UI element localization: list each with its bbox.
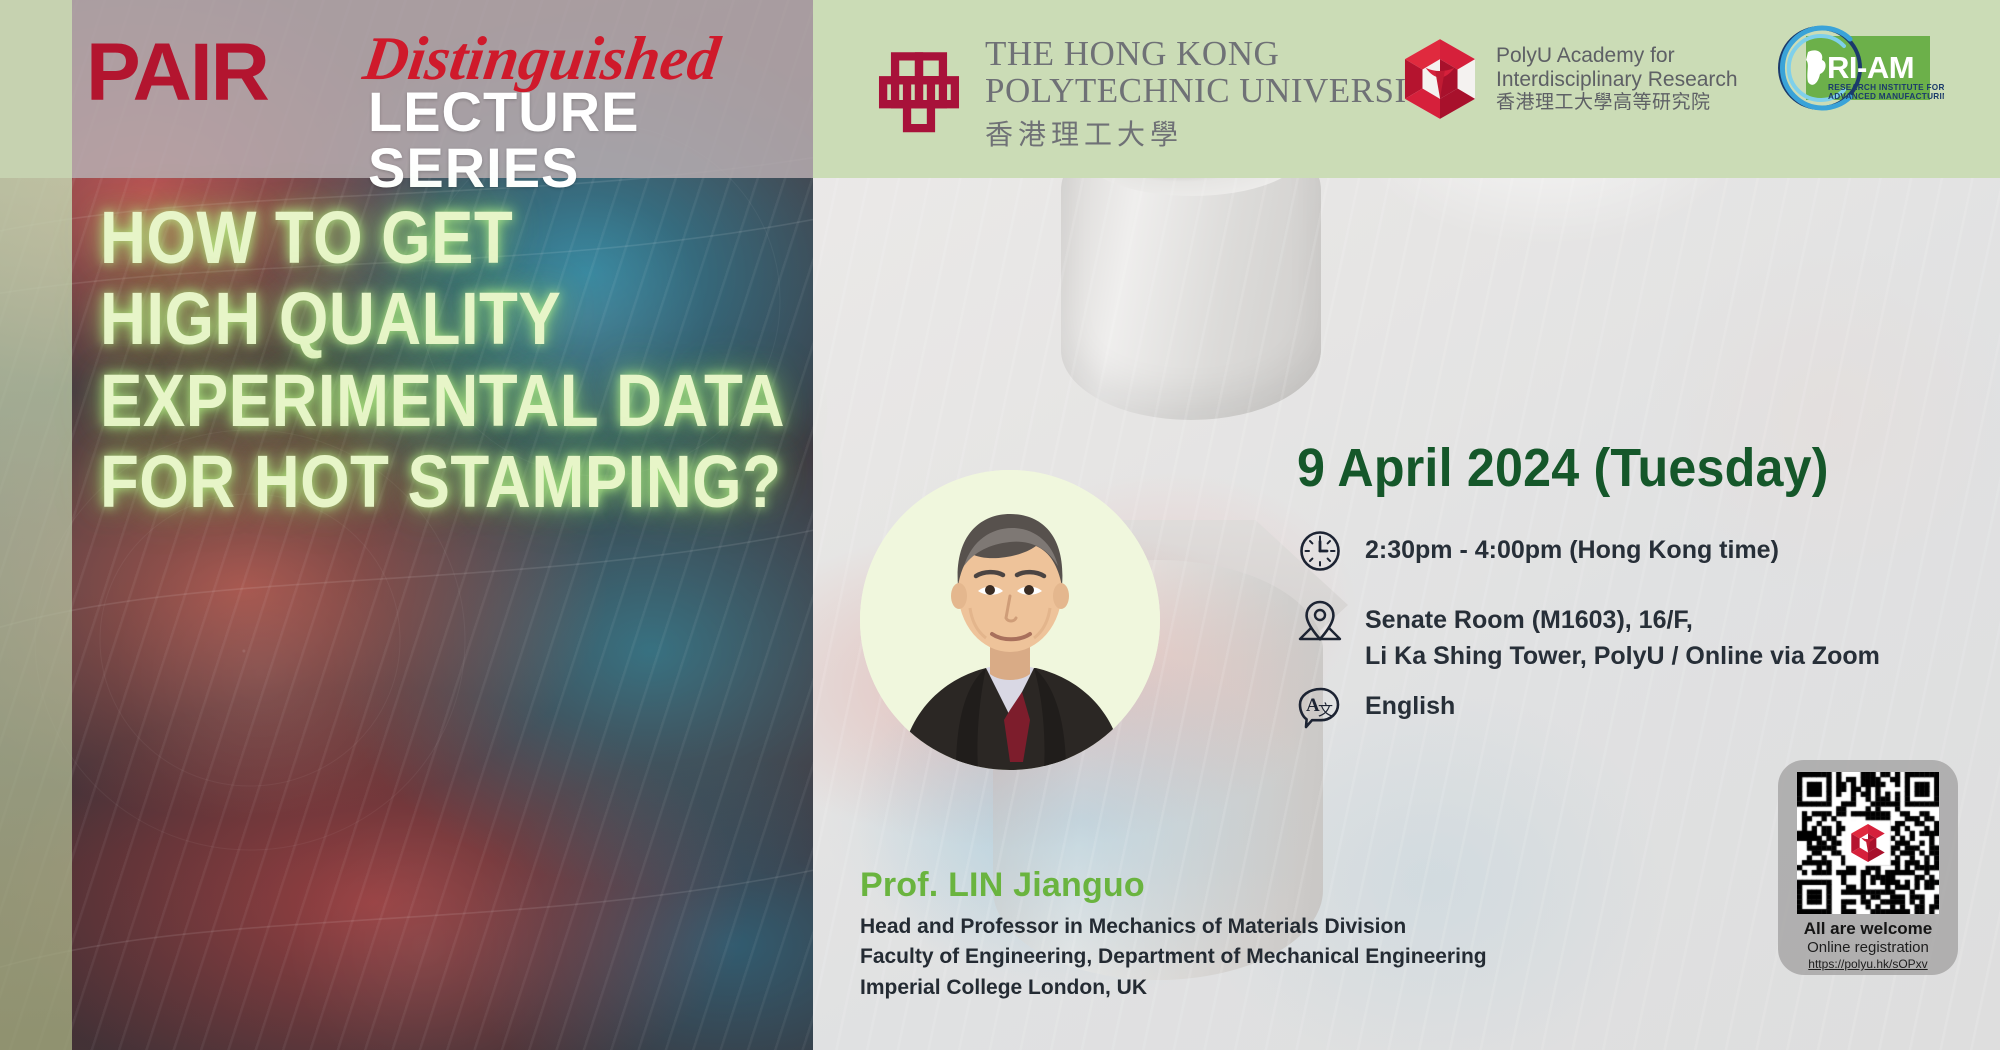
svg-text:ADVANCED MANUFACTURING: ADVANCED MANUFACTURING — [1828, 92, 1944, 101]
event-time-row: 2:30pm - 4:00pm (Hong Kong time) — [1297, 528, 1779, 574]
polyu-knot-icon — [873, 47, 965, 143]
polyu-academy-logo: PolyU Academy for Interdisciplinary Rese… — [1400, 36, 1738, 122]
online-registration-label: Online registration — [1807, 939, 1929, 956]
registration-card[interactable]: All are welcome Online registration http… — [1778, 760, 1958, 975]
svg-text:文: 文 — [1318, 701, 1333, 719]
svg-text:RESEARCH INSTITUTE FOR: RESEARCH INSTITUTE FOR — [1828, 83, 1944, 92]
title-line-1: HOW TO GET — [100, 200, 702, 275]
lecture-poster: PAIR Distinguished LECTURE SERIES THE HO… — [0, 0, 2000, 1050]
registration-url-link[interactable]: https://polyu.hk/sOPxv — [1808, 957, 1927, 971]
polyu-line1: THE HONG KONG — [985, 36, 1454, 72]
event-language-row: A 文 English — [1297, 684, 1455, 730]
event-venue-row: Senate Room (M1603), 16/F, Li Ka Shing T… — [1297, 598, 1880, 674]
riam-logo-icon: RI-AM RESEARCH INSTITUTE FOR ADVANCED MA… — [1772, 22, 1944, 114]
speaker-name: Prof. LIN Jianguo — [860, 866, 1145, 905]
event-language-text: English — [1365, 684, 1455, 725]
event-venue-text: Senate Room (M1603), 16/F, Li Ka Shing T… — [1365, 598, 1880, 674]
title-line-4: FOR HOT STAMPING? — [100, 444, 702, 519]
pair-wordmark: PAIR — [86, 32, 268, 114]
qr-code[interactable] — [1797, 772, 1939, 914]
riam-logo: RI-AM RESEARCH INSTITUTE FOR ADVANCED MA… — [1772, 22, 1944, 114]
clock-icon — [1297, 528, 1343, 574]
event-venue-line2: Li Ka Shing Tower, PolyU / Online via Zo… — [1365, 639, 1880, 675]
lecture-title: HOW TO GET HIGH QUALITY EXPERIMENTAL DAT… — [100, 200, 800, 526]
all-are-welcome-text: All are welcome — [1804, 920, 1933, 939]
event-venue-line1: Senate Room (M1603), 16/F, — [1365, 603, 1880, 639]
event-date: 9 April 2024 (Tuesday) — [1297, 437, 1829, 499]
svg-text:RI-AM: RI-AM — [1827, 50, 1914, 85]
academy-line2: Interdisciplinary Research — [1496, 68, 1738, 92]
academy-cube-icon — [1400, 36, 1480, 122]
speaker-photo — [860, 470, 1160, 770]
qr-center-academy-logo — [1849, 822, 1887, 864]
location-pin-icon — [1297, 598, 1343, 644]
speaker-affiliation-line1: Head and Professor in Mechanics of Mater… — [860, 912, 1487, 942]
polyu-chinese: 香港理工大學 — [985, 113, 1454, 153]
speaker-affiliation-line3: Imperial College London, UK — [860, 973, 1487, 1003]
speaker-affiliation: Head and Professor in Mechanics of Mater… — [860, 912, 1487, 1003]
event-time-text: 2:30pm - 4:00pm (Hong Kong time) — [1365, 528, 1779, 569]
speaker-affiliation-line2: Faculty of Engineering, Department of Me… — [860, 942, 1487, 972]
pair-lecture-series-logo: PAIR Distinguished LECTURE SERIES — [86, 22, 686, 150]
title-line-2: HIGH QUALITY — [100, 281, 702, 356]
language-translate-icon: A 文 — [1297, 684, 1343, 730]
lecture-series-text: LECTURE SERIES — [368, 84, 686, 196]
header-band-edge-strip — [0, 0, 72, 178]
polyu-logo: THE HONG KONG POLYTECHNIC UNIVERSITY 香港理… — [873, 36, 1454, 153]
polyu-line2: POLYTECHNIC UNIVERSITY — [985, 73, 1454, 109]
polyu-logo-text: THE HONG KONG POLYTECHNIC UNIVERSITY 香港理… — [985, 36, 1454, 153]
academy-chinese: 香港理工大學高等研究院 — [1496, 92, 1738, 113]
academy-line1: PolyU Academy for — [1496, 44, 1738, 68]
speaker-portrait — [860, 470, 1160, 770]
title-line-3: EXPERIMENTAL DATA — [100, 363, 702, 438]
academy-logo-text: PolyU Academy for Interdisciplinary Rese… — [1496, 44, 1738, 113]
